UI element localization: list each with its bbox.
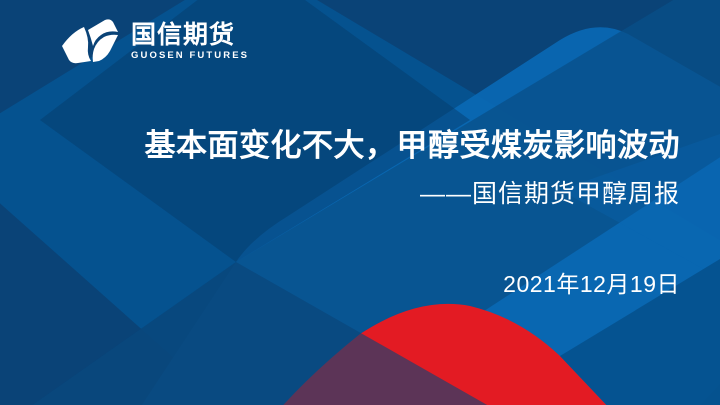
cover-text-block: 基本面变化不大，甲醇受煤炭影响波动 ——国信期货甲醇周报 2021年12月19日 [0, 128, 680, 298]
page-subtitle: ——国信期货甲醇周报 [0, 179, 680, 209]
logo-company-name-cn: 国信期货 [131, 22, 249, 48]
presentation-cover-slide: 国信期货 GUOSEN FUTURES 基本面变化不大，甲醇受煤炭影响波动 ——… [0, 0, 720, 405]
guosen-logo-icon [58, 16, 120, 66]
publication-date: 2021年12月19日 [0, 271, 680, 299]
logo-company-name-en: GUOSEN FUTURES [131, 51, 249, 61]
shape-red-accent [240, 304, 668, 405]
logo-wordmark: 国信期货 GUOSEN FUTURES [131, 20, 249, 62]
page-title: 基本面变化不大，甲醇受煤炭影响波动 [0, 128, 680, 165]
brand-logo: 国信期货 GUOSEN FUTURES [58, 16, 249, 66]
